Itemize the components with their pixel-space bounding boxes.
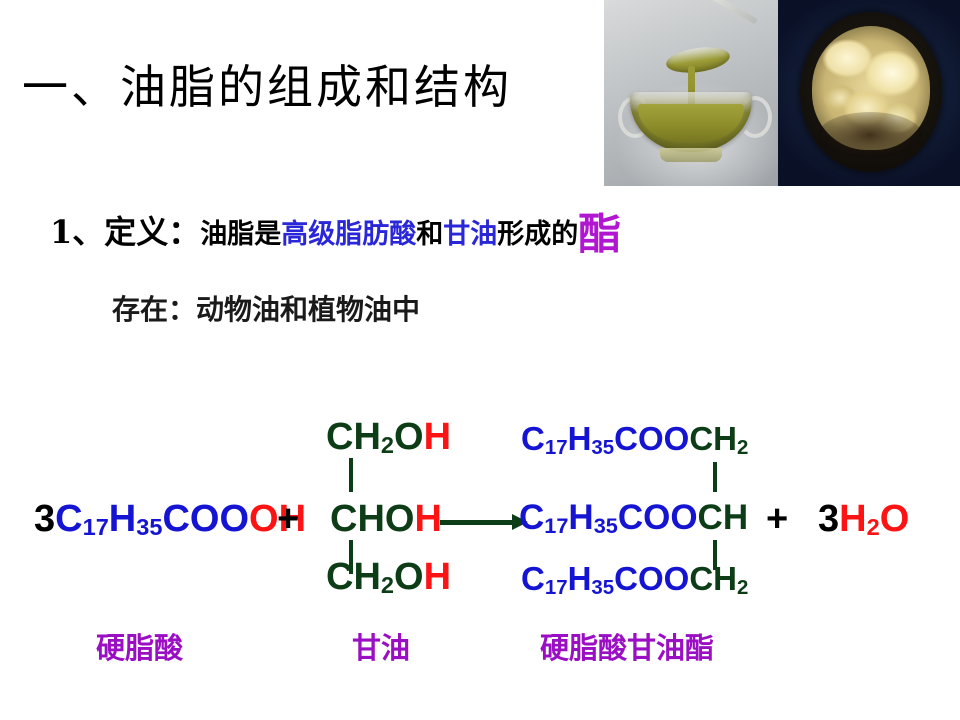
existence-line: 存在：动物油和植物油中 xyxy=(112,296,420,324)
product-mid-c-sub: 17 xyxy=(544,513,568,538)
product-bot-c-sub: 17 xyxy=(545,576,568,599)
product-water: 3H2O xyxy=(818,500,909,538)
glycerol-bond-upper xyxy=(349,458,353,492)
water-h: H xyxy=(839,498,866,540)
animal-fat-photo xyxy=(778,0,960,186)
chemical-equation: 3C17H35COOOH + CH2OH CHOH CH2OH C17H35CO… xyxy=(0,400,960,620)
product-mid-backbone: CH xyxy=(698,498,749,537)
glycerol-row-mid: CHOH xyxy=(330,500,442,538)
product-bot-ch: CH xyxy=(689,560,737,597)
glycerol-bot-o: O xyxy=(394,556,424,598)
plus-sign-2: + xyxy=(766,500,788,538)
product-top-ch-sub: 2 xyxy=(737,436,748,459)
vegetable-oil-photo xyxy=(604,0,778,186)
product-top-c-sub: 17 xyxy=(545,436,568,459)
stearic-acid-c-sub: 17 xyxy=(83,514,109,540)
photo-strip xyxy=(604,0,960,186)
definition-text-2: 和 xyxy=(416,219,443,250)
glycerol-bot-ch: CH xyxy=(326,556,381,598)
page-title: 一、油脂的组成和结构 xyxy=(22,58,512,116)
glycerol-bot-carbon: CH2O xyxy=(326,556,424,598)
plus-sign-1: + xyxy=(277,500,299,538)
reaction-arrow-line xyxy=(440,520,516,525)
stearic-acid-coefficient: 3 xyxy=(34,498,55,540)
definition-highlight-fatty-acid: 高级脂肪酸 xyxy=(281,219,416,250)
label-glyceryl-stearate: 硬脂酸甘油酯 xyxy=(540,634,714,663)
product-top-h-sub: 35 xyxy=(591,436,614,459)
product-top-ch: CH xyxy=(689,420,737,457)
water-sub: 2 xyxy=(867,514,880,540)
water-coefficient: 3 xyxy=(818,498,839,540)
product-top-backbone: CH2 xyxy=(689,420,748,457)
glycerol-top-sub: 2 xyxy=(381,432,394,458)
oil-spoon-handle-shape xyxy=(710,0,758,25)
glycerol-top-h: H xyxy=(424,416,451,458)
stearic-acid-coo: COO xyxy=(162,498,249,540)
product-top-c: C xyxy=(521,420,545,457)
glycerol-row-bot: CH2OH xyxy=(326,558,451,596)
product-mid-h: H xyxy=(568,498,593,537)
water-o: O xyxy=(880,498,910,540)
product-top-coo: COO xyxy=(614,420,689,457)
glycerol-bot-sub: 2 xyxy=(381,572,394,598)
product-mid-coo: COO xyxy=(618,498,698,537)
product-bot-acyl: C17H35COO xyxy=(521,560,689,597)
product-bot-ch-sub: 2 xyxy=(737,576,748,599)
product-bond-upper xyxy=(713,462,717,492)
glycerol-top-carbon: CH2O xyxy=(326,416,424,458)
slide-canvas: 一、油脂的组成和结构 1、定义：油脂是高级脂肪酸和甘油形成的酯 存在：动物油和植… xyxy=(0,0,960,720)
glycerol-row-top: CH2OH xyxy=(326,418,451,456)
product-row-bot: C17H35COOCH2 xyxy=(521,562,748,595)
butter-shadow-shape xyxy=(818,112,922,158)
product-bot-backbone: CH2 xyxy=(689,560,748,597)
definition-highlight-ester: 酯 xyxy=(578,210,621,260)
gravy-boat-base-shape xyxy=(660,148,722,162)
product-top-acyl: C17H35COO xyxy=(521,420,689,457)
product-bot-h: H xyxy=(568,560,592,597)
reactant-stearic-acid: 3C17H35COOOH xyxy=(34,500,306,538)
stearic-acid-c: C xyxy=(55,498,82,540)
product-mid-c: C xyxy=(519,498,544,537)
product-top-h: H xyxy=(568,420,592,457)
glycerol-bot-h: H xyxy=(424,556,451,598)
stearic-acid-chain: C17H35COO xyxy=(55,498,249,540)
label-stearic-acid: 硬脂酸 xyxy=(96,634,183,663)
glycerol-mid-h: H xyxy=(414,498,441,540)
definition-text-3: 形成的 xyxy=(497,219,578,250)
product-bot-coo: COO xyxy=(614,560,689,597)
definition-number: 1、 xyxy=(50,213,104,251)
water-formula: H2O xyxy=(839,498,909,540)
oil-spoon-shape xyxy=(665,44,732,77)
glycerol-top-o: O xyxy=(394,416,424,458)
definition-label: 定义： xyxy=(104,213,200,251)
definition-text-1: 油脂是 xyxy=(200,219,281,250)
product-row-mid: C17H35COOCH xyxy=(519,500,748,535)
definition-line: 1、定义：油脂是高级脂肪酸和甘油形成的酯 xyxy=(50,208,621,251)
definition-highlight-glycerol: 甘油 xyxy=(443,219,497,250)
glycerol-top-ch: CH xyxy=(326,416,381,458)
product-row-top: C17H35COOCH2 xyxy=(521,422,748,455)
label-glycerol: 甘油 xyxy=(352,634,410,663)
glycerol-mid-carbon: CHO xyxy=(330,498,414,540)
product-bot-h-sub: 35 xyxy=(591,576,614,599)
stearic-acid-h-sub: 35 xyxy=(136,514,162,540)
stearic-acid-h: H xyxy=(109,498,136,540)
product-mid-h-sub: 35 xyxy=(594,513,618,538)
product-bot-c: C xyxy=(521,560,545,597)
product-mid-acyl: C17H35COO xyxy=(519,498,698,537)
